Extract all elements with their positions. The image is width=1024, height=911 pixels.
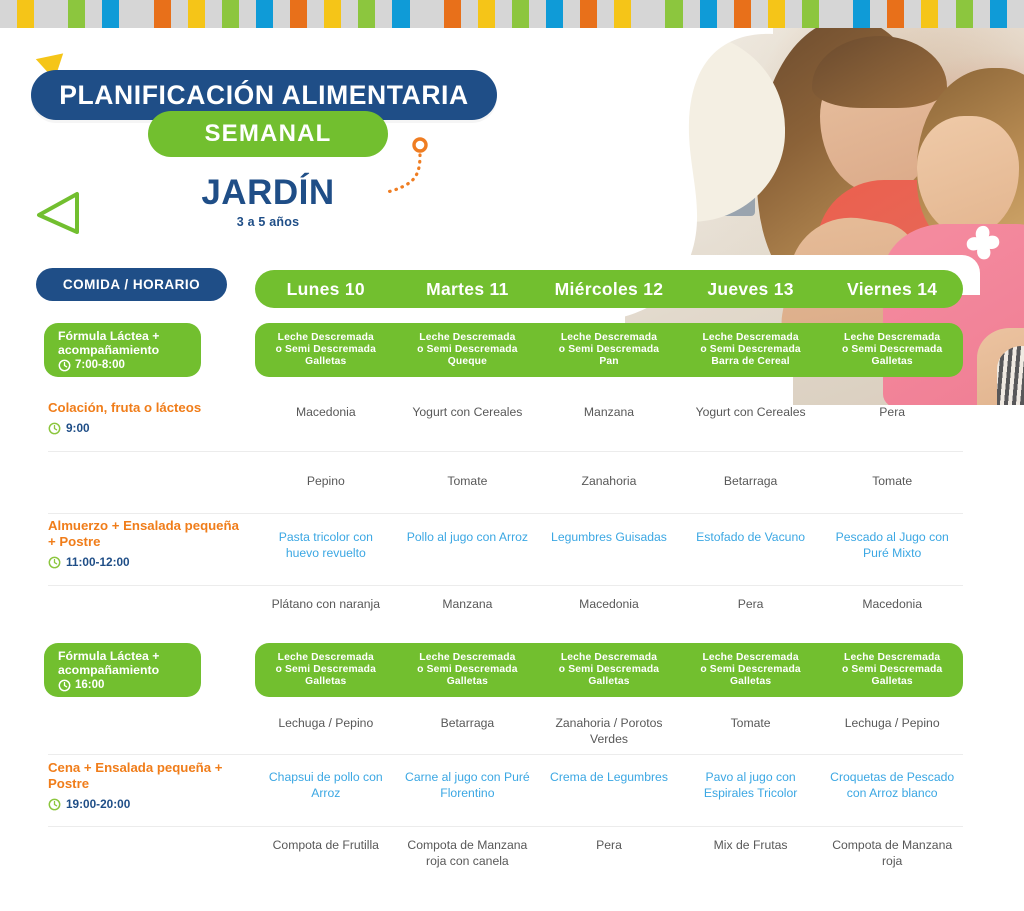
clock-icon [58,679,71,692]
cell-line: Galletas [397,676,539,688]
stripe-segment [973,0,990,28]
formula-afternoon-cell: Leche Descremadao Semi DescremadaGalleta… [397,652,539,689]
day-header-name: Viernes 14 [821,279,963,300]
row-label-text: Cena + Ensalada pequeña + Postre [48,760,248,792]
stripe-segment [256,0,273,28]
cena-dessert-cell: Compota de Manzana roja con canela [397,838,539,869]
stripe-segment [802,0,819,28]
cell-line: o Semi Descremada [397,344,539,356]
cell-line: Leche Descremada [255,332,397,344]
almuerzo-salad-cell: Tomate [821,474,963,490]
row-time: 11:00-12:00 [48,555,248,569]
colacion-cells: MacedoniaYogurt con CerealesManzanaYogur… [255,405,963,421]
row-time: 16:00 [58,679,201,692]
clock-icon [48,556,61,569]
cena-main-cell: Crema de Legumbres [538,770,680,786]
stripe-segment [171,0,188,28]
stripe-segment [34,0,51,28]
row-label-cena: Cena + Ensalada pequeña + Postre 19:00-2… [48,760,248,811]
cena-dessert-cells: Compota de FrutillaCompota de Manzana ro… [255,838,963,869]
cena-main-cell: Pavo al jugo con Espirales Tricolor [680,770,822,801]
stripe-segment [904,0,921,28]
stripe-segment [461,0,478,28]
stripe-segment [358,0,375,28]
cell-line: o Semi Descremada [397,664,539,676]
cena-main-cell: Chapsui de pollo con Arroz [255,770,397,801]
stripe-segment [529,0,546,28]
dotted-line-decoration [386,136,462,202]
almuerzo-dessert-cell: Manzana [397,597,539,613]
stripe-segment [307,0,324,28]
almuerzo-salad-cell: Tomate [397,474,539,490]
almuerzo-salad-cells: PepinoTomateZanahoriaBetarragaTomate [255,474,963,490]
row-time-text: 19:00-20:00 [66,797,130,811]
cell-line: o Semi Descremada [821,344,963,356]
almuerzo-main-cell: Pollo al jugo con Arroz [397,530,539,546]
stripe-segment [683,0,700,28]
row-label-formula-afternoon: Fórmula Láctea + acompañamiento 16:00 [44,643,201,697]
cell-line: o Semi Descremada [821,664,963,676]
stripe-segment [205,0,222,28]
stripe-segment [614,0,631,28]
audience-block: JARDÍN 3 a 5 años [148,175,388,229]
page-subtitle: SEMANAL [204,120,331,148]
cell-line: Leche Descremada [538,652,680,664]
row-time-text: 11:00-12:00 [66,555,130,569]
colacion-cell: Pera [821,405,963,421]
row-time: 9:00 [48,421,248,435]
formula-afternoon-cells: Leche Descremadao Semi DescremadaGalleta… [255,643,963,697]
cena-salad-cell: Zanahoria / Porotos Verdes [538,716,680,747]
almuerzo-main-cell: Pescado al Jugo con Puré Mixto [821,530,963,561]
row-label-formula-morning: Fórmula Láctea + acompañamiento 7:00-8:0… [44,323,201,377]
almuerzo-dessert-cell: Plátano con naranja [255,597,397,613]
stripe-segment [751,0,768,28]
cena-main-cells: Chapsui de pollo con ArrozCarne al jugo … [255,770,963,801]
cell-line: o Semi Descremada [680,664,822,676]
row-time: 7:00-8:00 [58,359,201,372]
cell-line: Leche Descremada [255,652,397,664]
almuerzo-salad-cell: Betarraga [680,474,822,490]
stripe-segment [734,0,751,28]
almuerzo-dessert-cell: Pera [680,597,822,613]
stripe-segment [239,0,256,28]
stripe-segment [495,0,512,28]
stripe-segment [938,0,955,28]
stripe-segment [990,0,1007,28]
almuerzo-main-cell: Pasta tricolor con huevo revuelto [255,530,397,561]
green-triangle-icon [33,188,81,236]
cena-salad-cell: Lechuga / Pepino [255,716,397,732]
day-header-name: Lunes 10 [255,279,397,300]
stripe-segment [819,0,836,28]
row-time-text: 9:00 [66,421,90,435]
day-header-name: Martes 11 [397,279,539,300]
formula-morning-cell: Leche Descremadao Semi DescremadaQueque [397,332,539,369]
stripe-segment [154,0,171,28]
row-divider [48,451,963,452]
cell-line: Leche Descremada [680,652,822,664]
stripe-segment [648,0,665,28]
almuerzo-dessert-cell: Macedonia [538,597,680,613]
row-divider [48,754,963,755]
meal-plan-page: PLANIFICACIÓN ALIMENTARIA SEMANAL JARDÍN… [0,0,1024,911]
formula-morning-cell: Leche Descremadao Semi DescremadaBarra d… [680,332,822,369]
row-label-text: Fórmula Láctea + acompañamiento [58,329,201,357]
cell-line: Leche Descremada [538,332,680,344]
stripe-segment [324,0,341,28]
stripe-segment [392,0,409,28]
cell-line: o Semi Descremada [538,664,680,676]
cell-line: Galletas [821,676,963,688]
cell-line: Galletas [255,676,397,688]
cell-line: o Semi Descremada [255,344,397,356]
cell-line: o Semi Descremada [538,344,680,356]
subtitle-pill: SEMANAL [148,111,388,157]
cell-line: Leche Descremada [397,332,539,344]
formula-afternoon-cell: Leche Descremadao Semi DescremadaGalleta… [538,652,680,689]
page-title: PLANIFICACIÓN ALIMENTARIA [59,80,469,111]
audience-age: 3 a 5 años [148,215,388,229]
formula-morning-cell: Leche Descremadao Semi DescremadaPan [538,332,680,369]
cell-line: Queque [397,356,539,368]
colacion-cell: Yogurt con Cereales [680,405,822,421]
cell-line: Leche Descremada [397,652,539,664]
cell-line: Leche Descremada [680,332,822,344]
stripe-segment [956,0,973,28]
formula-afternoon-cell: Leche Descremadao Semi DescremadaGalleta… [821,652,963,689]
row-divider [48,513,963,514]
clock-icon [48,422,61,435]
stripe-segment [341,0,358,28]
stripe-segment [563,0,580,28]
cena-dessert-cell: Mix de Frutas [680,838,822,854]
day-header-name: Miércoles 12 [538,279,680,300]
clock-icon [48,798,61,811]
cena-dessert-cell: Compota de Manzana roja [821,838,963,869]
cell-line: Galletas [680,676,822,688]
stripe-segment [290,0,307,28]
stripe-segment [665,0,682,28]
row-label-colacion: Colación, fruta o lácteos 9:00 [48,400,248,435]
stripe-segment [717,0,734,28]
stripe-segment [853,0,870,28]
stripe-segment [0,0,17,28]
formula-morning-cells: Leche Descremadao Semi DescremadaGalleta… [255,323,963,377]
stripe-segment [427,0,444,28]
stripe-segment [222,0,239,28]
stripe-segment [68,0,85,28]
formula-morning-cell: Leche Descremadao Semi DescremadaGalleta… [255,332,397,369]
stripe-segment [785,0,802,28]
cena-dessert-cell: Pera [538,838,680,854]
cell-line: Leche Descremada [821,652,963,664]
cell-line: Leche Descremada [821,332,963,344]
row-time: 19:00-20:00 [48,797,248,811]
stripe-segment [597,0,614,28]
formula-afternoon-cell: Leche Descremadao Semi DescremadaGalleta… [255,652,397,689]
row-label-text: Colación, fruta o lácteos [48,400,248,416]
cell-line: o Semi Descremada [255,664,397,676]
cena-main-cell: Croquetas de Pescado con Arroz blanco [821,770,963,801]
row-label-text: Fórmula Láctea + acompañamiento [58,649,201,677]
colacion-cell: Yogurt con Cereales [397,405,539,421]
stripe-segment [119,0,136,28]
stripe-segment [137,0,154,28]
cell-line: Barra de Cereal [680,356,822,368]
audience-name: JARDÍN [148,175,388,210]
row-label-text: Almuerzo + Ensalada pequeña + Postre [48,518,248,550]
stripe-segment [188,0,205,28]
stripe-segment [51,0,68,28]
cena-salad-cell: Betarraga [397,716,539,732]
cell-line: Galletas [821,356,963,368]
stripe-segment [512,0,529,28]
clock-icon [58,359,71,372]
almuerzo-main-cells: Pasta tricolor con huevo revueltoPollo a… [255,530,963,561]
row-time-text: 16:00 [75,679,104,691]
almuerzo-salad-cell: Zanahoria [538,474,680,490]
stripe-segment [870,0,887,28]
cena-main-cell: Carne al jugo con Puré Florentino [397,770,539,801]
stripe-segment [546,0,563,28]
cena-dessert-cell: Compota de Frutilla [255,838,397,854]
day-header-name: Jueves 13 [680,279,822,300]
colacion-cell: Manzana [538,405,680,421]
almuerzo-dessert-cells: Plátano con naranjaManzanaMacedoniaPeraM… [255,597,963,613]
cena-salad-cell: Lechuga / Pepino [821,716,963,732]
cell-line: o Semi Descremada [680,344,822,356]
stripe-segment [444,0,461,28]
row-divider [48,826,963,827]
row-divider [48,585,963,586]
cell-line: Pan [538,356,680,368]
top-stripe-decoration [0,0,1024,28]
stripe-segment [410,0,427,28]
formula-morning-cell: Leche Descremadao Semi DescremadaGalleta… [821,332,963,369]
day-header-labels: Lunes 10Martes 11Miércoles 12Jueves 13Vi… [255,270,963,308]
stripe-segment [478,0,495,28]
almuerzo-salad-cell: Pepino [255,474,397,490]
cena-salad-cells: Lechuga / PepinoBetarragaZanahoria / Por… [255,716,963,747]
row-time-text: 7:00-8:00 [75,359,125,371]
stripe-segment [921,0,938,28]
flower-icon [960,222,1006,268]
stripe-segment [700,0,717,28]
almuerzo-dessert-cell: Macedonia [821,597,963,613]
stripe-segment [887,0,904,28]
stripe-segment [17,0,34,28]
stripe-segment [631,0,648,28]
stripe-segment [580,0,597,28]
photo-child-skirt [997,346,1024,406]
formula-afternoon-cell: Leche Descremadao Semi DescremadaGalleta… [680,652,822,689]
stripe-segment [1007,0,1024,28]
stripe-segment [768,0,785,28]
cena-salad-cell: Tomate [680,716,822,732]
table-corner-label: COMIDA / HORARIO [36,268,227,301]
almuerzo-main-cell: Legumbres Guisadas [538,530,680,546]
stripe-segment [375,0,392,28]
row-label-almuerzo: Almuerzo + Ensalada pequeña + Postre 11:… [48,518,248,569]
cell-line: Galletas [255,356,397,368]
almuerzo-main-cell: Estofado de Vacuno [680,530,822,546]
stripe-segment [273,0,290,28]
stripe-segment [85,0,102,28]
cell-line: Galletas [538,676,680,688]
corner-label-text: COMIDA / HORARIO [63,277,200,292]
colacion-cell: Macedonia [255,405,397,421]
stripe-segment [102,0,119,28]
stripe-segment [836,0,853,28]
